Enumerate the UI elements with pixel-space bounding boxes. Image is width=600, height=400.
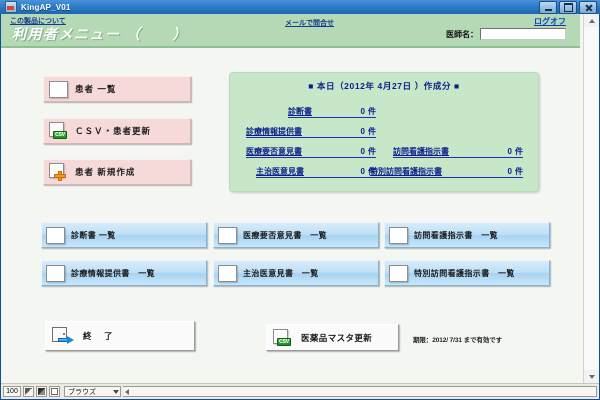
list-button-medical-info-provision[interactable]: 診療情報提供書 一覧 [41, 260, 207, 286]
csv-icon: CSV [273, 329, 292, 347]
drug-master-update-button[interactable]: CSV 医薬品マスタ更新 [266, 324, 399, 351]
list-button-attending-doctor-opinion[interactable]: 主治医意見書 一覧 [213, 260, 379, 286]
drug-master-update-label: 医薬品マスタ更新 [301, 332, 372, 344]
stat-label: 訪問看護指示書 [393, 146, 449, 157]
doctor-name-label: 医師名： [446, 29, 478, 40]
list-button-special-home-nursing-instruction[interactable]: 特別訪問看護指示書 一覧 [384, 260, 550, 286]
list-button-label: 医療要否意見書 一覧 [243, 230, 327, 241]
today-summary-panel: ■ 本日（2012年 4月27日 ）作成分 ■ 診断書 0 件 診療情報提供書 … [229, 72, 539, 192]
close-button[interactable] [579, 1, 597, 14]
window-toggle-icon[interactable] [49, 386, 60, 397]
csv-patient-update-button[interactable]: CSV ＣＳＶ・患者更新 [43, 118, 191, 144]
stat-count: 0 [361, 167, 368, 176]
list-icon [46, 227, 65, 244]
exit-door-icon [52, 327, 74, 346]
stat-unit: 件 [368, 146, 376, 157]
stat-label: 特別訪問看護指示書 [370, 166, 442, 177]
stat-label: 医療要否意見書 [246, 146, 302, 157]
scroll-up-button[interactable] [584, 14, 599, 27]
list-icon [218, 265, 237, 282]
list-button-home-nursing-instruction[interactable]: 訪問看護指示書 一覧 [384, 222, 550, 248]
stat-unit: 件 [515, 166, 523, 177]
window-body: この製品について 利用者メニュー （ ） メールで問合せ ログオフ 医師名： [0, 14, 600, 400]
stat-count: 0 [361, 107, 368, 116]
stat-special-home-nursing-instruction[interactable]: 特別訪問看護指示書 0 件 [370, 166, 523, 178]
patient-list-label: 患者 一覧 [75, 83, 116, 95]
zoom-level[interactable]: 100 [3, 386, 21, 397]
stat-unit: 件 [368, 106, 376, 117]
stat-home-nursing-instruction[interactable]: 訪問看護指示書 0 件 [393, 146, 523, 158]
stat-medical-necessity-opinion[interactable]: 医療要否意見書 0 件 [246, 146, 376, 158]
mode-selector[interactable]: ブラウズ [64, 386, 121, 397]
app-icon [5, 1, 17, 13]
chevron-up-icon [589, 19, 595, 23]
stat-attending-doctor-opinion[interactable]: 主治医意見書 0 件 [256, 166, 376, 178]
window-titlebar[interactable]: KingAP_V01 [0, 0, 600, 14]
scroll-down-button[interactable] [584, 370, 599, 383]
stat-count: 0 [361, 147, 368, 156]
chevron-down-icon [589, 375, 595, 379]
status-bar-filler [123, 386, 597, 397]
stat-unit: 件 [368, 126, 376, 137]
page-title: 利用者メニュー （ ） [12, 24, 188, 44]
chevron-left-icon [125, 389, 129, 395]
list-button-diagnosis-certificate[interactable]: 診断書 一覧 [41, 222, 207, 248]
list-icon [389, 227, 408, 244]
patient-new-label: 患者 新規作成 [75, 166, 135, 178]
today-panel-title: ■ 本日（2012年 4月27日 ）作成分 ■ [230, 80, 538, 92]
content-wrapper: この製品について 利用者メニュー （ ） メールで問合せ ログオフ 医師名： [1, 14, 599, 383]
doctor-name-group: 医師名： [446, 28, 566, 40]
stat-label: 診療情報提供書 [246, 126, 302, 137]
page-header: この製品について 利用者メニュー （ ） メールで問合せ ログオフ 医師名： [1, 14, 580, 48]
list-icon [46, 265, 65, 282]
license-expiry-note: 期限：2012/ 7/31 まで有効です [413, 334, 502, 344]
chevron-down-icon [113, 390, 119, 394]
list-button-medical-necessity-opinion[interactable]: 医療要否意見書 一覧 [213, 222, 379, 248]
exit-button-label: 終 了 [83, 330, 115, 342]
stat-count: 0 [508, 147, 515, 156]
exit-button[interactable]: 終 了 [45, 321, 195, 351]
list-icon [49, 81, 68, 98]
stat-count: 0 [361, 127, 368, 136]
application-window: KingAP_V01 この製品について 利用者メニュー （ ） メールで問合せ … [0, 0, 600, 400]
csv-patient-update-label: ＣＳＶ・患者更新 [75, 125, 151, 137]
scrollbar-track[interactable] [584, 27, 599, 370]
status-bar: 100 ブラウズ [1, 383, 599, 399]
maximize-button[interactable] [559, 1, 577, 14]
stat-label: 診断書 [288, 106, 312, 117]
stat-medical-info-provision[interactable]: 診療情報提供書 0 件 [246, 126, 376, 138]
patient-new-button[interactable]: 患者 新規作成 [43, 159, 191, 185]
zoom-in-icon[interactable] [36, 386, 47, 397]
stat-count: 0 [508, 167, 515, 176]
new-page-icon [49, 163, 68, 181]
list-button-label: 特別訪問看護指示書 一覧 [414, 268, 515, 279]
stat-diagnosis-certificate[interactable]: 診断書 0 件 [288, 106, 376, 118]
logoff-link[interactable]: ログオフ [534, 16, 566, 27]
mode-label: ブラウズ [68, 387, 96, 397]
stat-unit: 件 [515, 146, 523, 157]
mail-inquiry-link[interactable]: メールで問合せ [285, 18, 334, 28]
list-button-label: 診断書 一覧 [71, 230, 116, 241]
stat-label: 主治医意見書 [256, 166, 304, 177]
doctor-name-input[interactable] [480, 28, 566, 40]
patient-list-button[interactable]: 患者 一覧 [43, 76, 191, 102]
list-icon [389, 265, 408, 282]
list-button-label: 主治医意見書 一覧 [243, 268, 319, 279]
csv-icon: CSV [49, 122, 68, 140]
zoom-out-icon[interactable] [23, 386, 34, 397]
window-controls [539, 1, 597, 14]
vertical-scrollbar[interactable] [583, 14, 599, 383]
list-button-label: 訪問看護指示書 一覧 [414, 230, 498, 241]
menu-content: この製品について 利用者メニュー （ ） メールで問合せ ログオフ 医師名： [1, 14, 583, 383]
minimize-button[interactable] [539, 1, 557, 14]
window-title: KingAP_V01 [21, 3, 71, 12]
list-button-label: 診療情報提供書 一覧 [71, 268, 155, 279]
list-icon [218, 227, 237, 244]
